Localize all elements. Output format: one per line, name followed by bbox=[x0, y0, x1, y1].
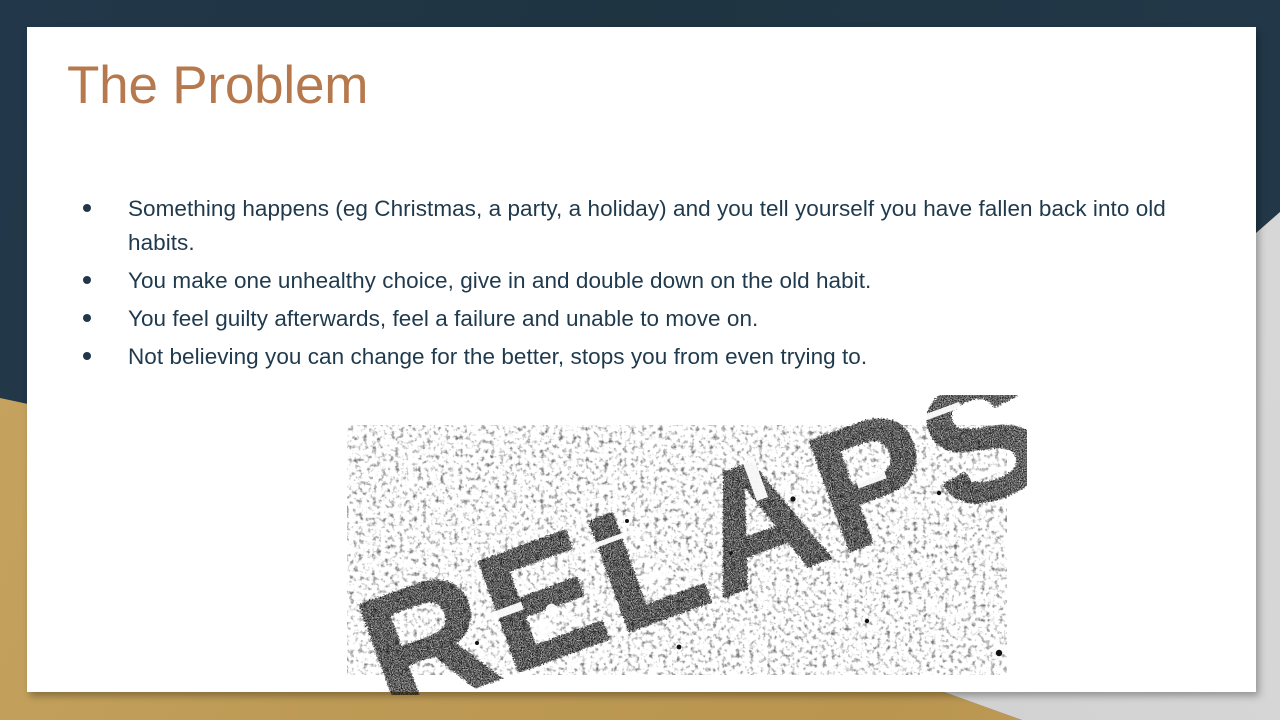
list-item-text: You make one unhealthy choice, give in a… bbox=[128, 264, 1225, 298]
bullet-dot-icon bbox=[75, 340, 128, 360]
bullet-dot-icon bbox=[75, 302, 128, 322]
svg-text:RELAPSE: RELAPSE bbox=[337, 395, 1027, 695]
list-item: Something happens (eg Christmas, a party… bbox=[75, 192, 1225, 260]
list-item-text: Something happens (eg Christmas, a party… bbox=[128, 192, 1225, 260]
list-item: You make one unhealthy choice, give in a… bbox=[75, 264, 1225, 298]
bullet-dot-icon bbox=[75, 264, 128, 284]
list-item-text: You feel guilty afterwards, feel a failu… bbox=[128, 302, 1225, 336]
list-item: You feel guilty afterwards, feel a failu… bbox=[75, 302, 1225, 336]
slide-canvas: The Problem Something happens (eg Christ… bbox=[0, 0, 1280, 720]
bullet-dot-icon bbox=[75, 192, 128, 212]
page-title: The Problem bbox=[67, 55, 368, 116]
relapse-stamp-graphic: RELAPSE bbox=[327, 395, 1027, 695]
relapse-stamp-image: RELAPSE bbox=[327, 395, 1027, 695]
slide-card: The Problem Something happens (eg Christ… bbox=[27, 27, 1256, 692]
list-item: Not believing you can change for the bet… bbox=[75, 340, 1225, 374]
list-item-text: Not believing you can change for the bet… bbox=[128, 340, 1225, 374]
bullet-list: Something happens (eg Christmas, a party… bbox=[75, 192, 1225, 378]
